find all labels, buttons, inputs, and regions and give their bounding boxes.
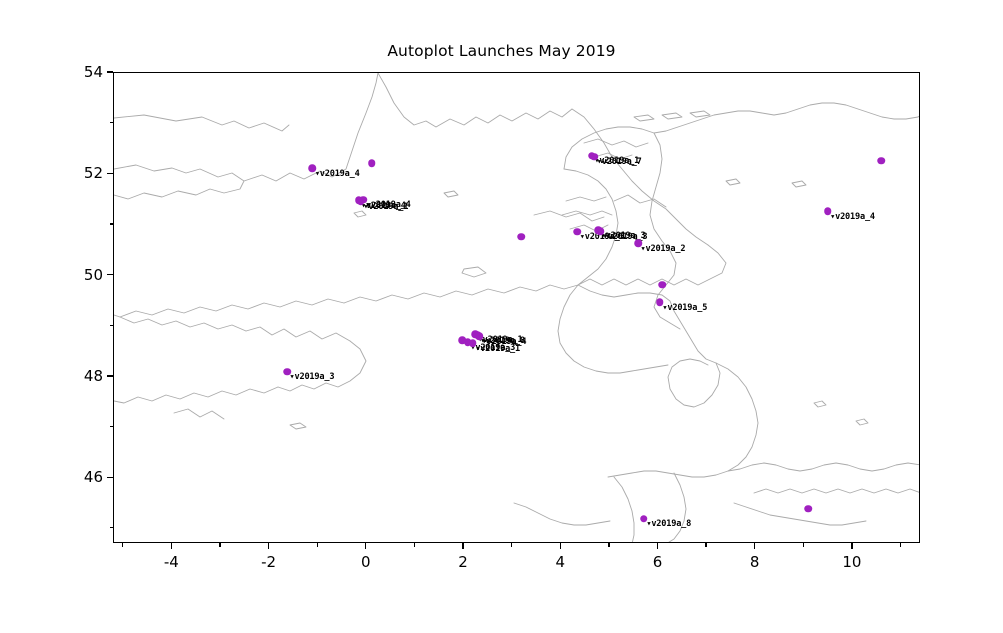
data-point-label: ▾v2019a_3 [290,372,335,382]
y-axis-major-tick [107,477,113,478]
y-axis-tick-label: 54 [61,63,103,81]
x-axis-major-tick [462,543,463,549]
matplotlib-figure: Autoplot Launches May 2019 [0,0,1003,633]
data-point-label: ▾v2019a_1 [475,344,520,354]
data-point-marker[interactable] [877,157,885,165]
x-axis-tick-label: 10 [842,553,861,571]
data-point-marker[interactable] [659,281,667,289]
x-axis-minor-tick [414,543,415,547]
x-axis-major-tick [657,543,658,549]
x-axis-minor-tick [122,543,123,547]
x-axis-major-tick [754,543,755,549]
x-axis-minor-tick [219,543,220,547]
x-axis-major-tick [268,543,269,549]
x-axis-major-tick [851,543,852,549]
x-axis-minor-tick [317,543,318,547]
data-point-label: ▾v2019a_8 [646,519,691,529]
y-axis-minor-tick [110,223,114,224]
x-axis-tick-label: -4 [164,553,179,571]
y-axis-tick-label: 48 [61,367,103,385]
data-point-label: ▾v2019a_7 [597,157,642,167]
x-axis-minor-tick [608,543,609,547]
x-axis-tick-label: 0 [361,553,371,571]
y-axis-minor-tick [110,122,114,123]
x-axis-tick-label: 4 [555,553,565,571]
map-plot-area[interactable] [113,72,920,543]
data-point-label: ▾v2019a_5 [662,303,707,313]
y-axis-tick-label: 50 [61,266,103,284]
x-axis-minor-tick [511,543,512,547]
data-point-marker[interactable] [518,233,526,241]
data-point-label: ▾v2019a_4 [315,169,360,179]
y-axis-major-tick [107,375,113,376]
y-axis-tick-label: 46 [61,468,103,486]
data-point-label: ▾v2019a_2 [641,244,686,254]
coastline-map [114,73,920,543]
data-point-marker[interactable] [368,159,376,167]
y-axis-minor-tick [110,426,114,427]
x-axis-tick-label: -2 [261,553,276,571]
x-axis-major-tick [365,543,366,549]
y-axis-minor-tick [110,527,114,528]
data-point-label: ▾v2019a_4 [830,212,875,222]
page-title: Autoplot Launches May 2019 [0,42,1003,60]
x-axis-tick-label: 2 [458,553,468,571]
y-axis-minor-tick [110,325,114,326]
data-point-label: ▾v2019a_4 [366,200,411,210]
y-axis-tick-label: 52 [61,164,103,182]
x-axis-minor-tick [803,543,804,547]
y-axis-major-tick [107,173,113,174]
x-axis-tick-label: 8 [750,553,760,571]
data-point-marker[interactable] [804,505,812,513]
x-axis-major-tick [560,543,561,549]
x-axis-major-tick [171,543,172,549]
x-axis-minor-tick [705,543,706,547]
x-axis-tick-label: 6 [653,553,663,571]
y-axis-major-tick [107,274,113,275]
y-axis-major-tick [107,71,113,72]
x-axis-minor-tick [900,543,901,547]
